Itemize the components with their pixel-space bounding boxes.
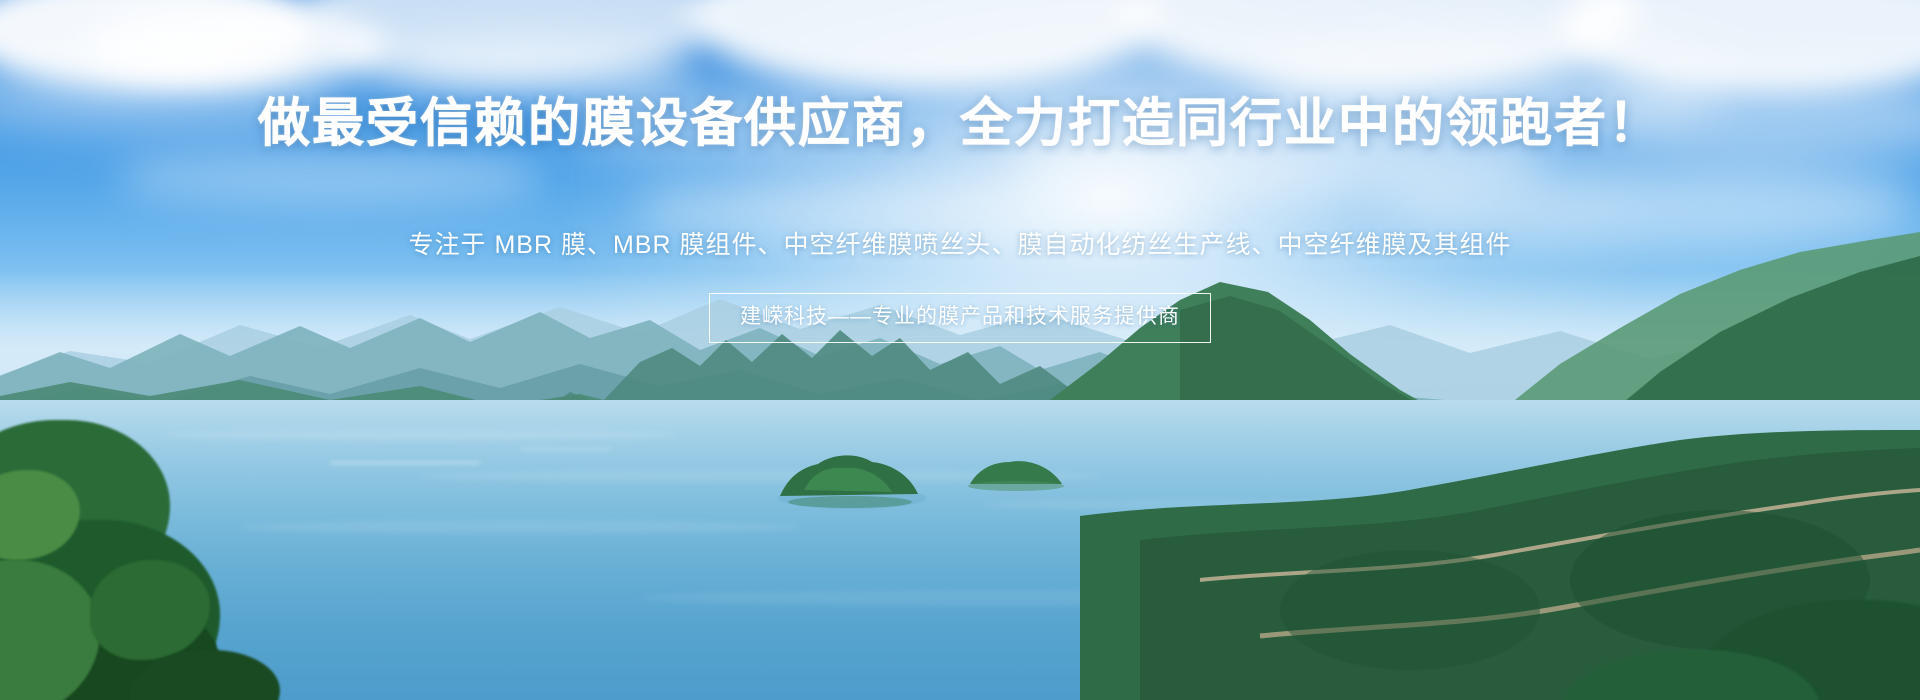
hero-tagline-wrapper: 建嵘科技——专业的膜产品和技术服务提供商 (0, 293, 1920, 343)
hero-subheadline: 专注于 MBR 膜、MBR 膜组件、中空纤维膜喷丝头、膜自动化纺丝生产线、中空纤… (0, 228, 1920, 262)
hero-text-overlay: 做最受信赖的膜设备供应商，全力打造同行业中的领跑者！ 专注于 MBR 膜、MBR… (0, 0, 1920, 700)
hero-tagline-box: 建嵘科技——专业的膜产品和技术服务提供商 (709, 293, 1211, 343)
hero-banner: 做最受信赖的膜设备供应商，全力打造同行业中的领跑者！ 专注于 MBR 膜、MBR… (0, 0, 1920, 700)
hero-headline: 做最受信赖的膜设备供应商，全力打造同行业中的领跑者！ (0, 96, 1920, 152)
